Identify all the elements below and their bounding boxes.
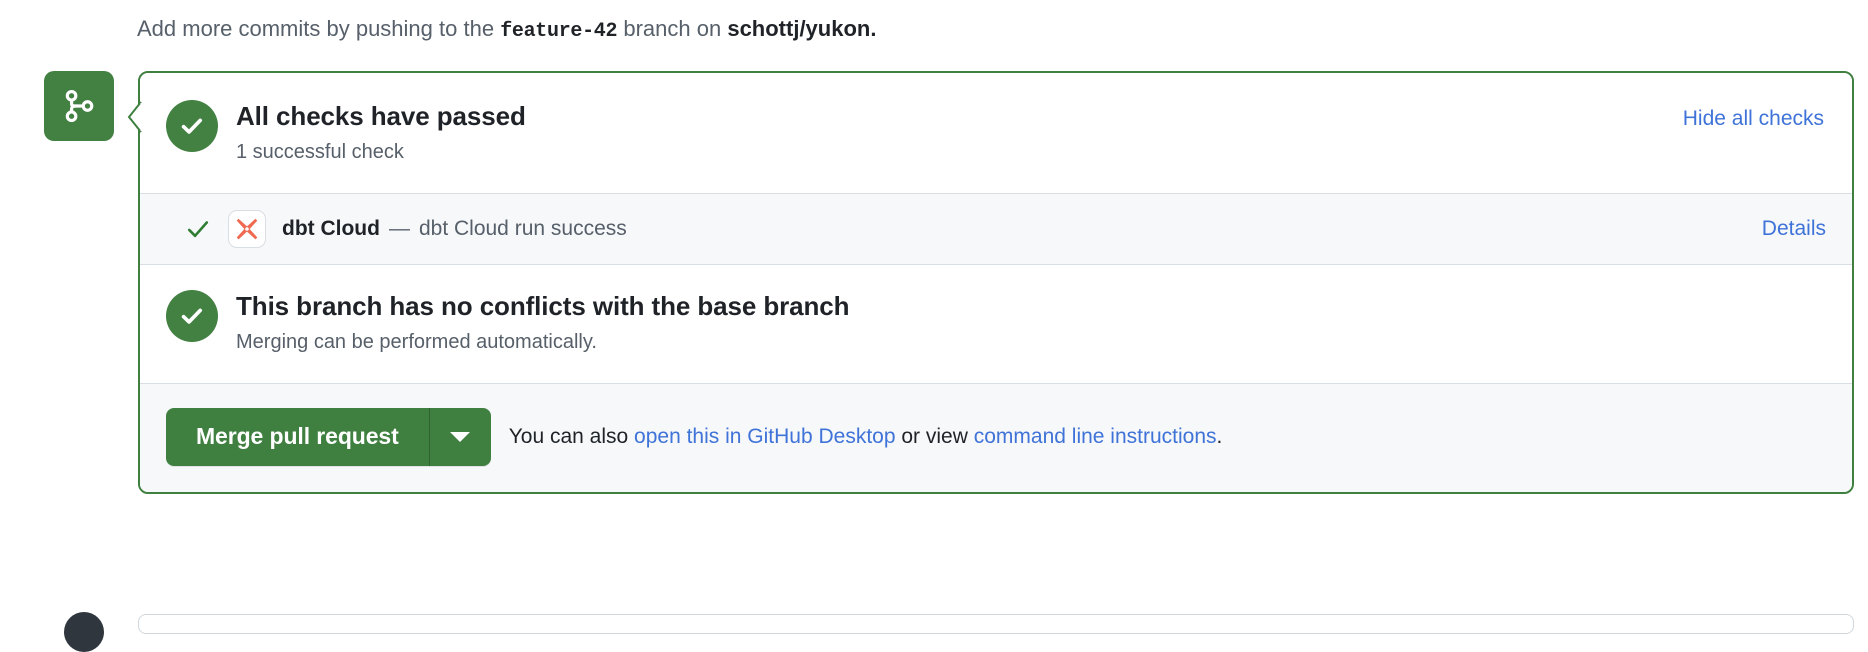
merge-alt-prefix: You can also	[509, 425, 629, 448]
merge-alternatives-text: You can also open this in GitHub Desktop…	[509, 422, 1223, 452]
branch-name: feature-42	[500, 20, 617, 43]
conflicts-title: This branch has no conflicts with the ba…	[236, 289, 1826, 323]
push-notice-middle: branch on	[623, 16, 721, 41]
check-circle-icon	[166, 290, 218, 342]
merge-alt-suffix: .	[1217, 425, 1223, 448]
push-notice-suffix: .	[870, 16, 876, 41]
dbt-cloud-logo-icon	[228, 210, 266, 248]
callout-caret	[127, 101, 141, 131]
checks-summary-subtitle: 1 successful check	[236, 137, 1683, 167]
check-app-name: dbt Cloud	[282, 217, 380, 241]
conflicts-subtitle: Merging can be performed automatically.	[236, 327, 1826, 357]
hide-all-checks-link[interactable]: Hide all checks	[1683, 107, 1824, 131]
check-description: dbt Cloud run success	[419, 217, 627, 241]
chevron-down-icon	[450, 432, 470, 442]
push-more-commits-notice: Add more commits by pushing to the featu…	[137, 13, 876, 48]
git-merge-icon	[62, 89, 96, 123]
checks-summary-text: All checks have passed 1 successful chec…	[236, 99, 1683, 167]
checks-summary-section: All checks have passed 1 successful chec…	[140, 73, 1852, 193]
push-notice-prefix: Add more commits by pushing to the	[137, 16, 494, 41]
merge-alt-middle: or view	[901, 425, 968, 448]
command-line-instructions-link[interactable]: command line instructions	[974, 425, 1217, 448]
check-row[interactable]: dbt Cloud — dbt Cloud run success Detail…	[140, 193, 1852, 265]
next-timeline-box	[138, 614, 1854, 634]
check-icon	[184, 215, 212, 243]
check-circle-icon	[166, 100, 218, 152]
merge-options-dropdown-button[interactable]	[429, 408, 491, 466]
merge-pull-request-button[interactable]: Merge pull request	[166, 408, 429, 466]
conflicts-section: This branch has no conflicts with the ba…	[140, 265, 1852, 384]
checks-summary-title: All checks have passed	[236, 99, 1683, 133]
check-separator: —	[389, 217, 410, 241]
next-timeline-avatar	[64, 612, 104, 652]
merge-action-section: Merge pull request You can also open thi…	[140, 384, 1852, 492]
open-in-github-desktop-link[interactable]: open this in GitHub Desktop	[634, 425, 895, 448]
check-details-link[interactable]: Details	[1762, 217, 1826, 241]
git-merge-badge	[44, 71, 114, 141]
conflicts-text: This branch has no conflicts with the ba…	[236, 289, 1826, 357]
merge-button-group: Merge pull request	[166, 408, 491, 466]
repository-name: schottj/yukon	[727, 16, 870, 41]
merge-status-box: All checks have passed 1 successful chec…	[138, 71, 1854, 494]
